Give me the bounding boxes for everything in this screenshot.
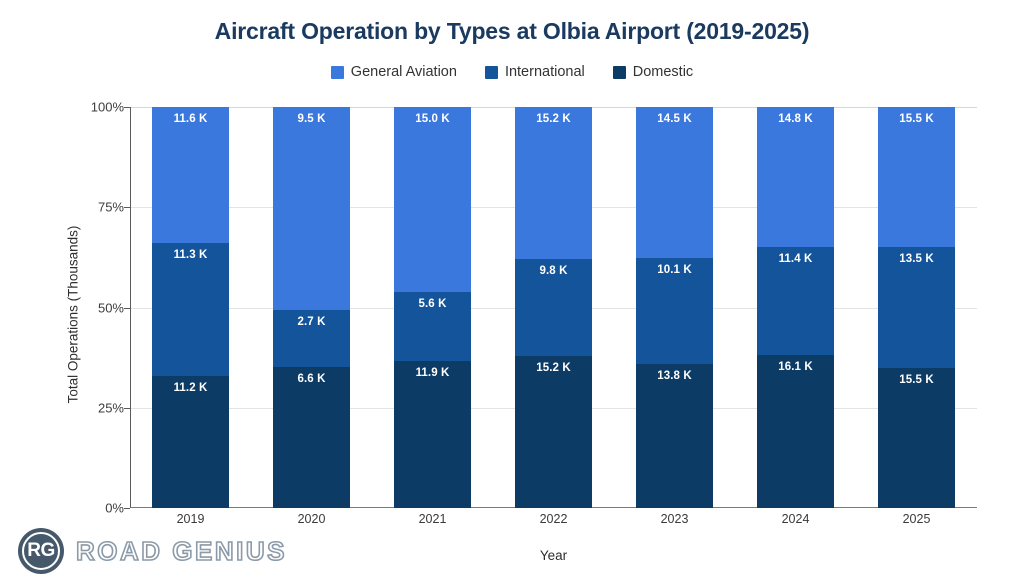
- legend-swatch-icon: [331, 66, 344, 79]
- bar-segment[interactable]: 14.8 K: [757, 107, 834, 247]
- bar-segment[interactable]: 10.1 K: [636, 258, 713, 363]
- y-axis-title: Total Operations (Thousands): [66, 105, 81, 525]
- bar-value-label: 13.8 K: [636, 370, 713, 382]
- legend-item-general-aviation[interactable]: General Aviation: [331, 64, 457, 80]
- bar-value-label: 15.2 K: [515, 362, 592, 374]
- bar-segment[interactable]: 15.2 K: [515, 356, 592, 508]
- legend-item-international[interactable]: International: [485, 64, 585, 80]
- bar-value-label: 15.2 K: [515, 113, 592, 125]
- bar-group[interactable]: 14.8 K11.4 K16.1 K: [735, 107, 856, 508]
- bar-segment[interactable]: 11.9 K: [394, 361, 471, 508]
- chart-title: Aircraft Operation by Types at Olbia Air…: [0, 18, 1024, 45]
- bar-segment[interactable]: 15.2 K: [515, 107, 592, 259]
- bar-value-label: 11.2 K: [152, 382, 229, 394]
- bar-stack: 9.5 K2.7 K6.6 K: [273, 107, 350, 508]
- bar-value-label: 9.5 K: [273, 113, 350, 125]
- bar-group[interactable]: 14.5 K10.1 K13.8 K: [614, 107, 735, 508]
- bar-series-container: 11.6 K11.3 K11.2 K9.5 K2.7 K6.6 K15.0 K5…: [130, 107, 977, 508]
- bar-segment[interactable]: 13.8 K: [636, 364, 713, 508]
- bar-stack: 14.8 K11.4 K16.1 K: [757, 107, 834, 508]
- bar-value-label: 11.9 K: [394, 367, 471, 379]
- bar-stack: 14.5 K10.1 K13.8 K: [636, 107, 713, 508]
- bar-segment[interactable]: 6.6 K: [273, 367, 350, 508]
- bar-segment[interactable]: 11.2 K: [152, 376, 229, 508]
- bar-value-label: 16.1 K: [757, 361, 834, 373]
- bar-segment[interactable]: 9.5 K: [273, 107, 350, 310]
- bar-segment[interactable]: 15.5 K: [878, 107, 955, 247]
- y-axis-tick-label: 0%: [0, 501, 124, 516]
- legend-swatch-icon: [485, 66, 498, 79]
- brand-watermark: RG ROAD GENIUS: [18, 528, 287, 574]
- logo-wordmark: ROAD GENIUS: [76, 536, 287, 567]
- bar-value-label: 13.5 K: [878, 253, 955, 265]
- bar-stack: 15.0 K5.6 K11.9 K: [394, 107, 471, 508]
- x-axis-tick-label: 2023: [614, 512, 735, 526]
- bar-segment[interactable]: 15.0 K: [394, 107, 471, 292]
- bar-segment[interactable]: 11.4 K: [757, 247, 834, 355]
- bar-segment[interactable]: 11.6 K: [152, 107, 229, 243]
- road-genius-logo-icon: RG: [18, 528, 64, 574]
- bar-value-label: 10.1 K: [636, 264, 713, 276]
- legend-swatch-icon: [613, 66, 626, 79]
- bar-value-label: 6.6 K: [273, 373, 350, 385]
- legend-label: International: [505, 64, 585, 80]
- logo-initials: RG: [27, 540, 55, 562]
- x-axis-labels: 2019202020212022202320242025: [130, 512, 977, 526]
- bar-value-label: 14.8 K: [757, 113, 834, 125]
- bar-segment[interactable]: 11.3 K: [152, 243, 229, 376]
- bar-group[interactable]: 9.5 K2.7 K6.6 K: [251, 107, 372, 508]
- bar-group[interactable]: 15.2 K9.8 K15.2 K: [493, 107, 614, 508]
- bar-group[interactable]: 15.0 K5.6 K11.9 K: [372, 107, 493, 508]
- bar-stack: 15.5 K13.5 K15.5 K: [878, 107, 955, 508]
- bar-value-label: 11.6 K: [152, 113, 229, 125]
- bar-segment[interactable]: 15.5 K: [878, 368, 955, 508]
- bar-segment[interactable]: 13.5 K: [878, 247, 955, 369]
- x-axis-tick-label: 2022: [493, 512, 614, 526]
- bar-segment[interactable]: 9.8 K: [515, 259, 592, 357]
- bar-group[interactable]: 15.5 K13.5 K15.5 K: [856, 107, 977, 508]
- legend-label: General Aviation: [351, 64, 457, 80]
- bar-segment[interactable]: 16.1 K: [757, 355, 834, 508]
- chart-legend: General AviationInternationalDomestic: [0, 64, 1024, 80]
- legend-item-domestic[interactable]: Domestic: [613, 64, 693, 80]
- y-axis-tick-label: 100%: [0, 100, 124, 115]
- bar-value-label: 15.5 K: [878, 374, 955, 386]
- bar-value-label: 11.3 K: [152, 249, 229, 261]
- y-axis-tick-label: 75%: [0, 200, 124, 215]
- x-axis-tick-label: 2020: [251, 512, 372, 526]
- x-axis-tick-label: 2024: [735, 512, 856, 526]
- x-axis-tick-label: 2019: [130, 512, 251, 526]
- bar-value-label: 2.7 K: [273, 316, 350, 328]
- bar-value-label: 11.4 K: [757, 253, 834, 265]
- x-axis-tick-label: 2025: [856, 512, 977, 526]
- bar-value-label: 9.8 K: [515, 265, 592, 277]
- legend-label: Domestic: [633, 64, 693, 80]
- bar-value-label: 5.6 K: [394, 298, 471, 310]
- bar-stack: 11.6 K11.3 K11.2 K: [152, 107, 229, 508]
- bar-segment[interactable]: 14.5 K: [636, 107, 713, 258]
- bar-group[interactable]: 11.6 K11.3 K11.2 K: [130, 107, 251, 508]
- bar-value-label: 14.5 K: [636, 113, 713, 125]
- x-axis-tick-label: 2021: [372, 512, 493, 526]
- y-axis-tick-mark: [124, 508, 130, 509]
- bar-segment[interactable]: 2.7 K: [273, 310, 350, 368]
- y-axis-tick-label: 50%: [0, 300, 124, 315]
- bar-segment[interactable]: 5.6 K: [394, 292, 471, 361]
- bar-value-label: 15.0 K: [394, 113, 471, 125]
- bar-stack: 15.2 K9.8 K15.2 K: [515, 107, 592, 508]
- y-axis-tick-label: 25%: [0, 400, 124, 415]
- bar-value-label: 15.5 K: [878, 113, 955, 125]
